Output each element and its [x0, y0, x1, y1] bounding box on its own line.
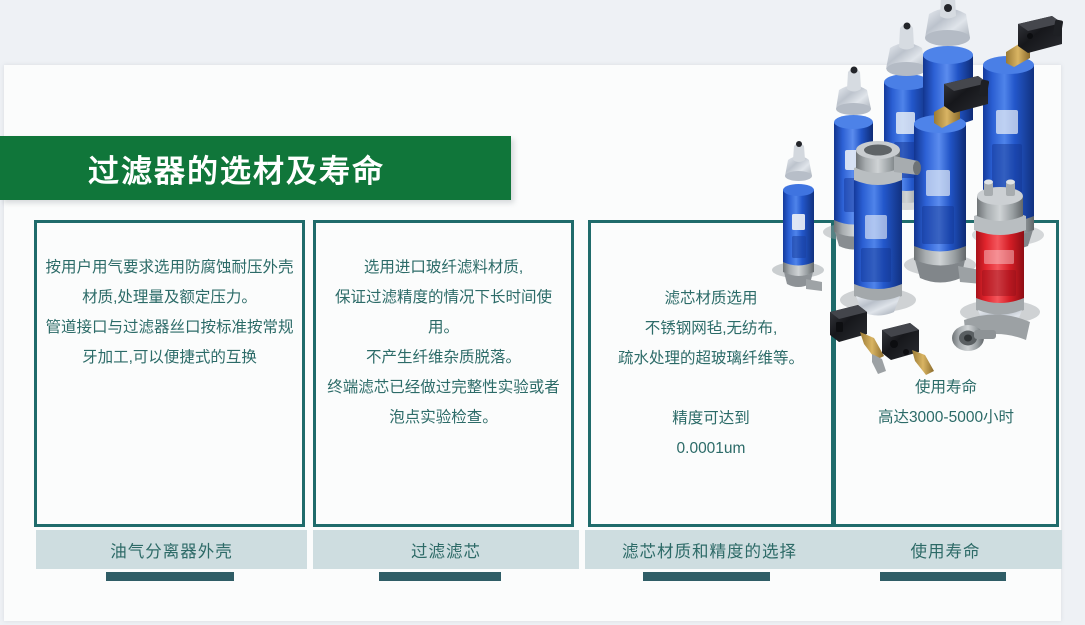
- card-underline-accent: [880, 572, 1006, 581]
- filter-unit-a: [772, 141, 824, 291]
- card-underline-accent: [106, 572, 234, 581]
- card-body-text: 使用寿命 高达3000-5000小时: [842, 373, 1050, 433]
- card-body-text: 按用户用气要求选用防腐蚀耐压外壳材质,处理量及额定压力。 管道接口与过滤器丝口按…: [43, 253, 296, 373]
- section-title-banner: 过滤器的选材及寿命: [0, 136, 511, 200]
- card-footer-label: 油气分离器外壳: [110, 538, 233, 562]
- card-footer-label: 过滤滤芯: [411, 538, 481, 562]
- card-outline: 选用进口玻纤滤料材质, 保证过滤精度的情况下长时间使用。 不产生纤维杂质脱落。 …: [313, 220, 574, 527]
- card-footer: 滤芯材质和精度的选择: [585, 530, 834, 569]
- solenoid-valve-e: [1006, 16, 1063, 67]
- card-footer: 油气分离器外壳: [36, 530, 307, 569]
- card-footer-label: 使用寿命: [911, 538, 981, 562]
- card-underline-accent: [379, 572, 501, 581]
- card-body-text: 选用进口玻纤滤料材质, 保证过滤精度的情况下长时间使用。 不产生纤维杂质脱落。 …: [322, 253, 565, 433]
- card-footer-label: 滤芯材质和精度的选择: [622, 538, 797, 562]
- feature-card-filter-element: 选用进口玻纤滤料材质, 保证过滤精度的情况下长时间使用。 不产生纤维杂质脱落。 …: [313, 220, 574, 590]
- card-footer: 使用寿命: [829, 530, 1062, 569]
- port-assembly-h: [952, 314, 1030, 351]
- loose-solenoid-valve-2: [882, 323, 934, 375]
- filter-housing-product-image: [768, 0, 1085, 380]
- card-footer: 过滤滤芯: [313, 530, 579, 569]
- card-outline: 按用户用气要求选用防腐蚀耐压外壳材质,处理量及额定压力。 管道接口与过滤器丝口按…: [34, 220, 305, 527]
- page-title: 过滤器的选材及寿命: [88, 146, 385, 191]
- feature-card-oil-gas-separator-shell: 按用户用气要求选用防腐蚀耐压外壳材质,处理量及额定压力。 管道接口与过滤器丝口按…: [34, 220, 305, 590]
- card-underline-accent: [643, 572, 770, 581]
